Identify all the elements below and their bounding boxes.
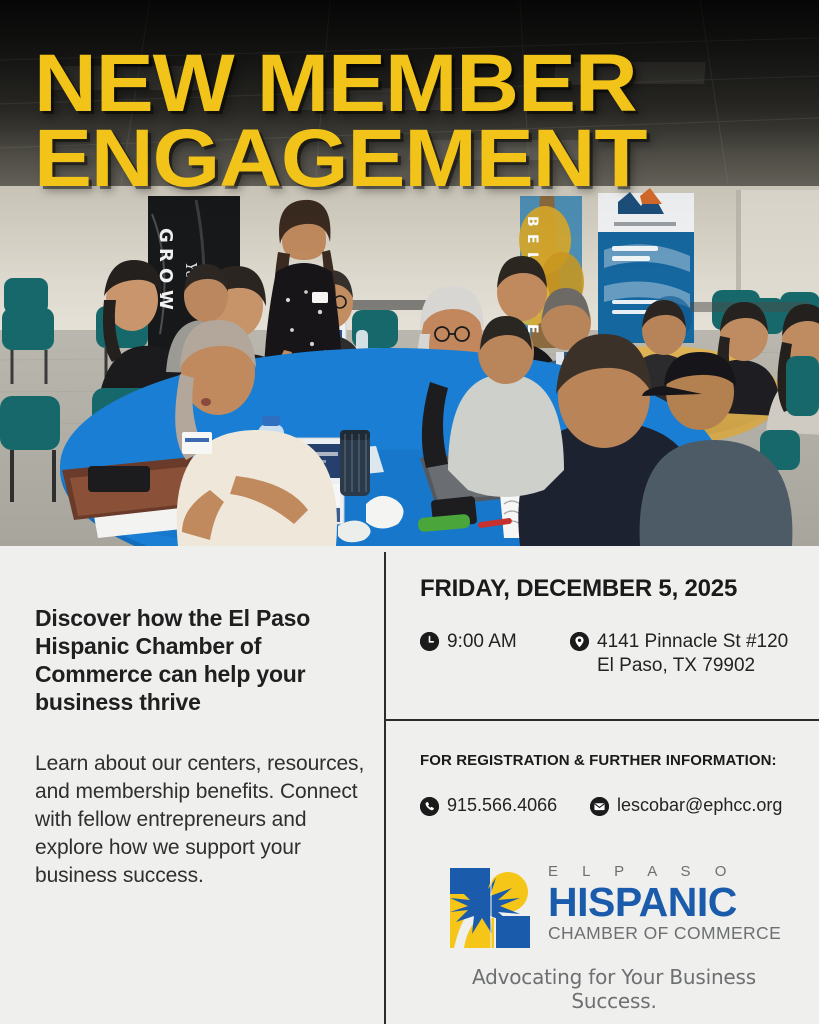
lead-text: Discover how the El Paso Hispanic Chambe… (35, 604, 367, 716)
registration-heading: FOR REGISTRATION & FURTHER INFORMATION: (420, 752, 810, 769)
vertical-divider (384, 552, 386, 1024)
event-location: 4141 Pinnacle St #120 El Paso, TX 79902 (570, 630, 788, 678)
phone-icon (420, 797, 439, 816)
logo-tagline: Advocating for Your Business Success. (444, 965, 784, 1013)
logo-line-chamber: CHAMBER OF COMMERCE (548, 925, 781, 943)
svg-text:W: W (155, 290, 176, 310)
description-column: Discover how the El Paso Hispanic Chambe… (35, 604, 367, 890)
chamber-logo: E L P A S O HISPANIC CHAMBER OF COMMERCE… (444, 862, 784, 1013)
event-address: 4141 Pinnacle St #120 El Paso, TX 79902 (597, 630, 788, 678)
logo-line-hispanic: HISPANIC (548, 882, 781, 923)
hero-photo-illustration: G R O W Your d r (0, 0, 819, 546)
registration-block: FOR REGISTRATION & FURTHER INFORMATION: … (420, 752, 810, 817)
address-line-1: 4141 Pinnacle St #120 (597, 631, 788, 652)
hero-photo: G R O W Your d r (0, 0, 819, 546)
envelope-icon (590, 797, 609, 816)
body-text: Learn about our centers, resources, and … (35, 750, 367, 890)
ephcc-sun-river-mark-icon (444, 862, 536, 954)
contact-phone[interactable]: 915.566.4066 (420, 795, 590, 817)
horizontal-divider (384, 719, 819, 721)
contact-email[interactable]: lescobar@ephcc.org (590, 795, 782, 817)
event-meta-row: 9:00 AM 4141 Pinnacle St #120 El Paso, T… (420, 630, 810, 678)
phone-number: 915.566.4066 (447, 795, 557, 817)
registration-contacts: 915.566.4066 lescobar@ephcc.org (420, 795, 810, 817)
event-details: FRIDAY, DECEMBER 5, 2025 9:00 AM (420, 575, 810, 678)
event-date: FRIDAY, DECEMBER 5, 2025 (420, 575, 810, 603)
email-address: lescobar@ephcc.org (617, 795, 782, 817)
event-time-text: 9:00 AM (447, 630, 517, 654)
clock-icon (420, 632, 439, 651)
event-time: 9:00 AM (420, 630, 570, 654)
location-pin-icon (570, 632, 589, 651)
logo-line-el-paso: E L P A S O (548, 864, 781, 879)
flyer-page: G R O W Your d r (0, 0, 819, 1024)
address-line-2: El Paso, TX 79902 (597, 655, 755, 676)
